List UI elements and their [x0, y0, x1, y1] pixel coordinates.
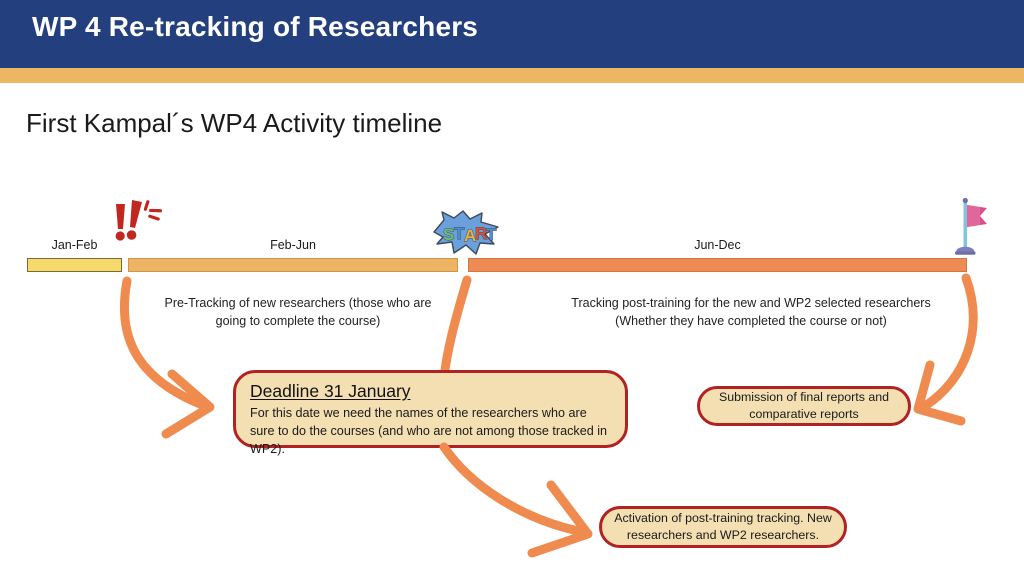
timeline-label-jun-dec: Jun-Dec	[468, 238, 967, 252]
timeline-segment-feb-jun	[128, 258, 458, 272]
svg-text:S: S	[443, 225, 454, 244]
callout-submission: Submission of final reports and comparat…	[697, 386, 911, 426]
svg-text:T: T	[486, 225, 497, 244]
arrow-to-activation-box-head	[444, 447, 588, 553]
phase-description-pre-tracking: Pre-Tracking of new researchers (those w…	[148, 294, 448, 330]
slide-canvas: WP 4 Re-tracking of Researchers First Ka…	[0, 0, 1024, 565]
phase-description-post-training: Tracking post-training for the new and W…	[556, 294, 946, 330]
deadline-body: For this date we need the names of the r…	[250, 405, 611, 459]
timeline-segment-jan-feb	[27, 258, 122, 272]
callout-deadline: Deadline 31 January For this date we nee…	[233, 370, 628, 448]
timeline-label-feb-jun: Feb-Jun	[128, 238, 458, 252]
arrows-under-layer	[0, 0, 1024, 565]
start-burst-icon: S T A R T	[430, 210, 502, 256]
activation-text: Activation of post-training tracking. Ne…	[610, 510, 836, 545]
slide-subtitle: First Kampal´s WP4 Activity timeline	[26, 108, 442, 139]
submission-text: Submission of final reports and comparat…	[710, 389, 898, 424]
finish-flag-icon	[946, 196, 990, 258]
header-accent-band	[0, 68, 1024, 83]
exclamation-marks-icon	[108, 198, 164, 250]
page-title: WP 4 Re-tracking of Researchers	[32, 11, 478, 43]
callout-activation: Activation of post-training tracking. Ne…	[599, 506, 847, 548]
deadline-title: Deadline 31 January	[250, 381, 611, 402]
timeline-segment-jun-dec	[468, 258, 967, 272]
arrows-over-layer	[0, 0, 1024, 565]
